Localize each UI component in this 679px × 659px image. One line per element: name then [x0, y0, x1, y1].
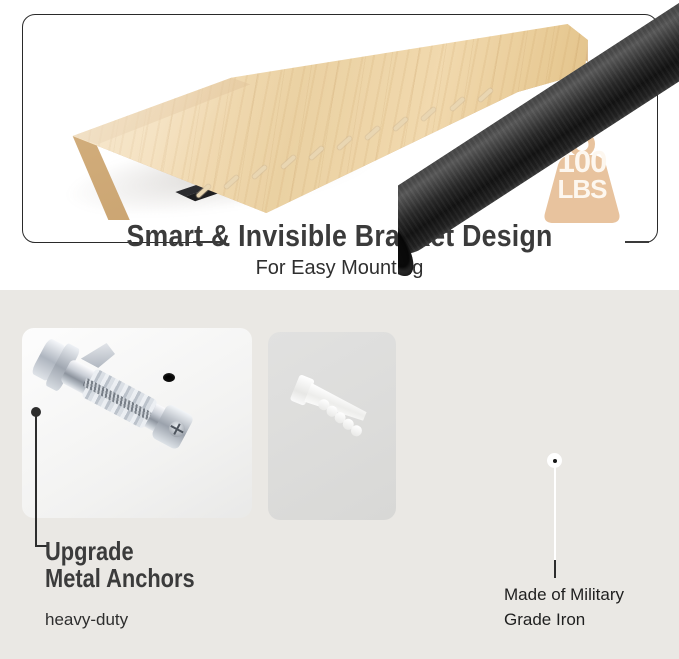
- callout-right-line1: Made of Military: [504, 583, 624, 608]
- iron-pipe-body: [398, 0, 679, 267]
- callout-left-title-line1: Upgrade: [45, 538, 195, 565]
- callout-line-right: [554, 466, 556, 566]
- callout-left-subtitle: heavy-duty: [45, 610, 128, 630]
- callout-left-title-line2: Metal Anchors: [45, 565, 195, 592]
- callout-dot-right-center: [553, 459, 557, 463]
- callout-line-right-lower: [554, 560, 556, 578]
- iron-pipe-image: [398, 0, 679, 330]
- iron-pipe-drill-hole: [163, 373, 175, 382]
- callout-left-title: Upgrade Metal Anchors: [45, 538, 195, 591]
- callout-right-label: Made of Military Grade Iron: [504, 583, 624, 632]
- callout-line-left-vertical: [35, 412, 37, 546]
- callout-right-line2: Grade Iron: [504, 608, 624, 633]
- product-infographic: 100 LBS Smart & Invisible Bracket Design…: [0, 0, 679, 659]
